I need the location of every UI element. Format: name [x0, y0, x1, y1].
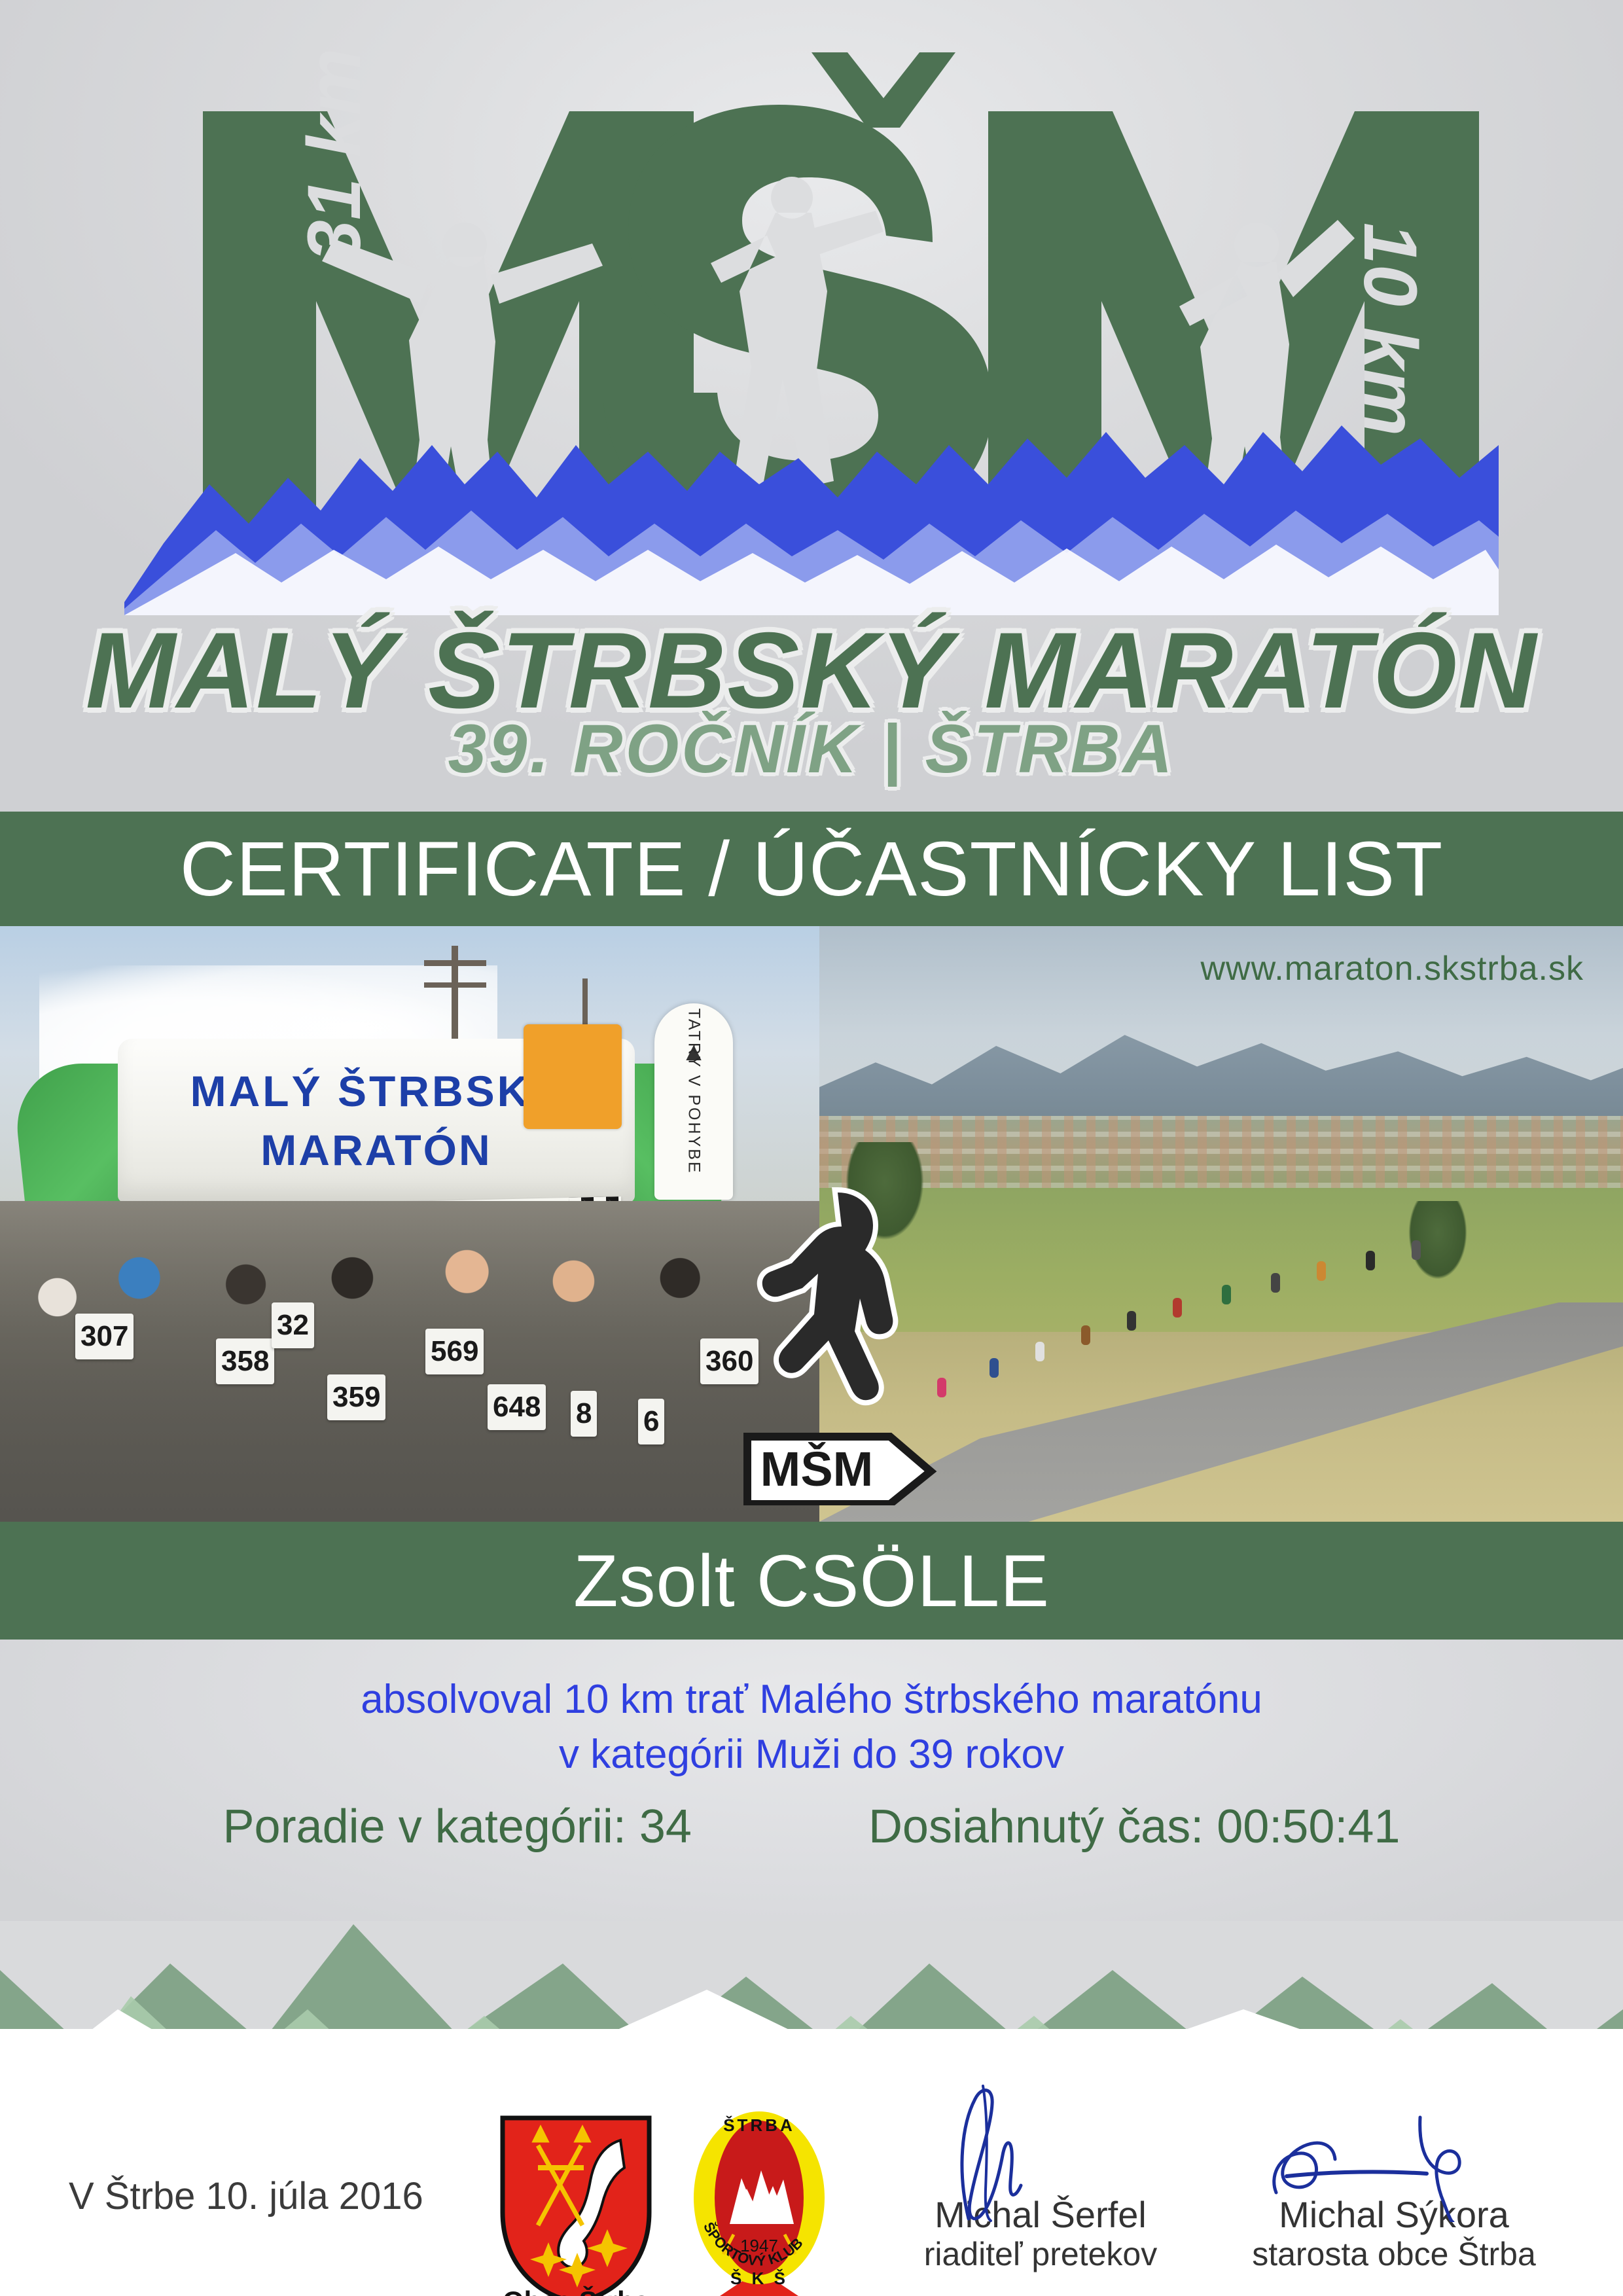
- footer: V Štrbe 10. júla 2016 Obec Štrba: [0, 2029, 1623, 2296]
- achievement-description: absolvoval 10 km trať Malého štrbského m…: [0, 1672, 1623, 1782]
- runner-bib: 569: [425, 1329, 484, 1374]
- runner: [1271, 1273, 1280, 1293]
- runner: [1081, 1325, 1090, 1345]
- distance-left-label: 31 km: [293, 48, 376, 262]
- website-url[interactable]: www.maraton.skstrba.sk: [1201, 949, 1584, 988]
- runner-bib: 648: [488, 1384, 546, 1430]
- runner-bib: 32: [272, 1302, 314, 1348]
- signatory-role: starosta obce Štrba: [1224, 2234, 1564, 2274]
- arch-title-line1: MALÝ ŠTRBSKÝ: [190, 1066, 563, 1116]
- club-top-text: ŠTRBA: [723, 2115, 795, 2135]
- participant-name-banner: Zsolt CSÖLLE: [0, 1522, 1623, 1640]
- runner: [1035, 1342, 1044, 1361]
- photo-race-start: MALÝ ŠTRBSKÝ MARATÓN ŠTART - CIEĽ ▲ TATR…: [0, 926, 819, 1522]
- runner-bib: 6: [638, 1399, 664, 1444]
- runner-crowd: [0, 1201, 819, 1522]
- runner: [1412, 1240, 1421, 1260]
- logo-header-area: 31 km 10 km MALÝ ŠTRBSKÝ MARATÓN 39. ROČ…: [0, 0, 1623, 812]
- runner: [1173, 1298, 1182, 1318]
- arch-title-line2: MARATÓN: [260, 1125, 491, 1175]
- achievement-line2: v kategórii Muži do 39 rokov: [0, 1727, 1623, 1782]
- certificate-heading-banner: CERTIFICATE / ÚČASTNÍCKY LIST: [0, 812, 1623, 926]
- runner-bib: 8: [571, 1391, 597, 1437]
- msm-emblem-text: MŠM: [760, 1442, 874, 1496]
- orange-sponsor-sign: [524, 1024, 622, 1129]
- village-rooftops: [819, 1116, 1623, 1188]
- sks-strba-club-logo-icon: 1947 ŠTRBA Š K Š ŠPORTOVÝ KLUB: [684, 2106, 834, 2296]
- runner: [990, 1358, 999, 1378]
- msm-logo-graphic: 31 km 10 km: [124, 26, 1499, 615]
- event-subtitle: 39. ROČNÍK | ŠTRBA: [0, 710, 1623, 789]
- runner: [1127, 1311, 1136, 1331]
- finish-time: Dosiahnutý čas: 00:50:41: [868, 1800, 1400, 1854]
- participant-name: Zsolt CSÖLLE: [573, 1539, 1050, 1623]
- certificate-heading-text: CERTIFICATE / ÚČASTNÍCKY LIST: [180, 825, 1443, 914]
- runner: [1366, 1251, 1375, 1270]
- results-row: Poradie v kategórii: 34 Dosiahnutý čas: …: [0, 1800, 1623, 1854]
- feather-flag-text: TATRY V POHYBE: [685, 1008, 704, 1174]
- obec-strba-crest-icon: [497, 2114, 654, 2296]
- handwritten-signature: [1224, 2078, 1564, 2222]
- runner: [1317, 1261, 1326, 1281]
- achievement-line1: absolvoval 10 km trať Malého štrbského m…: [0, 1672, 1623, 1727]
- result-info-area: absolvoval 10 km trať Malého štrbského m…: [0, 1640, 1623, 1921]
- certificate-page: 31 km 10 km MALÝ ŠTRBSKÝ MARATÓN 39. ROČ…: [0, 0, 1623, 2296]
- pole-crossbar: [424, 982, 486, 988]
- date-and-place: V Štrbe 10. júla 2016: [69, 2174, 423, 2218]
- pole-crossbar: [424, 960, 486, 966]
- signature-block-mayor: Michal Sýkora starosta obce Štrba: [1224, 2196, 1564, 2274]
- runner-bib: 307: [75, 1314, 134, 1359]
- signatory-role: riaditeľ pretekov: [870, 2234, 1211, 2274]
- club-abbrev: Š K Š: [730, 2269, 788, 2288]
- feather-flag: ▲ TATRY V POHYBE: [654, 1003, 733, 1200]
- distance-right-label: 10 km: [1348, 223, 1432, 436]
- runner-bib: 359: [327, 1374, 385, 1420]
- handwritten-signature: [870, 2078, 1211, 2222]
- signature-block-race-director: Michal Šerfel riaditeľ pretekov: [870, 2196, 1211, 2274]
- runner-bib: 358: [216, 1338, 274, 1384]
- runner: [1222, 1285, 1231, 1304]
- category-rank: Poradie v kategórii: 34: [223, 1800, 692, 1854]
- msm-runner-emblem: MŠM: [740, 1178, 955, 1505]
- obec-strba-label: Obec Štrba: [497, 2286, 654, 2296]
